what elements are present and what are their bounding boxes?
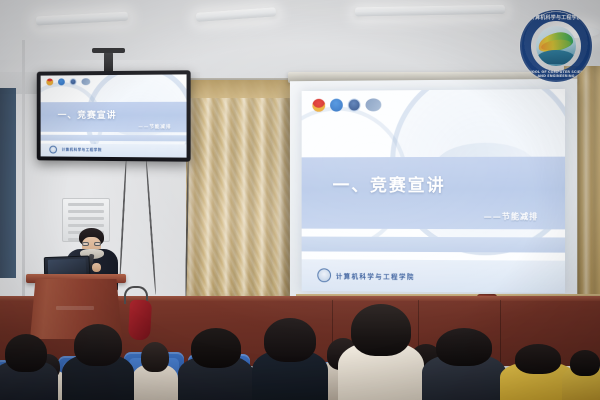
slide-footer-org: 计算机科学与工程学院 xyxy=(62,148,102,153)
emblem-red-logo-icon xyxy=(46,79,53,86)
audience-member xyxy=(62,324,134,400)
emblem-text-bottom: SCHOOL OF COMPUTER SCIENCE AND ENGINEERI… xyxy=(520,70,592,78)
slide-logo-row xyxy=(312,98,381,111)
university-seal-icon xyxy=(49,146,57,154)
tv-screen: 一、竞赛宣讲 ——节能减排 计算机科学与工程学院 xyxy=(41,74,187,157)
emblem-text-top: 计算机科学与工程学院 xyxy=(520,14,592,21)
slide-accent-band xyxy=(302,237,565,252)
slide-logo-row xyxy=(46,78,90,85)
slide-mirror: 一、竞赛宣讲 ——节能减排 计算机科学与工程学院 xyxy=(41,74,187,157)
ceiling-mounted-display: 一、竞赛宣讲 ——节能减排 计算机科学与工程学院 xyxy=(37,70,191,161)
audience-head xyxy=(264,318,316,362)
slide-accent-band xyxy=(41,135,187,141)
lecture-hall-photo: 一、竞赛宣讲 ——节能减排 计算机科学与工程学院 xyxy=(0,0,600,400)
university-school-emblem: 计算机科学与工程学院 SCHOOL OF COMPUTER SCIENCE AN… xyxy=(520,10,592,82)
slide-subtitle: ——节能减排 xyxy=(138,124,171,130)
slide-title: 一、竞赛宣讲 xyxy=(333,171,446,196)
slide-subtitle: ——节能减排 xyxy=(484,211,539,222)
audience-member xyxy=(562,350,600,400)
green-energy-logo-icon xyxy=(81,78,90,85)
slide-footer: 计算机科学与工程学院 xyxy=(41,143,187,157)
slide-footer-org: 计算机科学与工程学院 xyxy=(336,270,415,280)
audience-head xyxy=(351,304,411,356)
speaker-hand xyxy=(92,263,101,272)
emblem-red-logo-icon xyxy=(312,99,325,112)
audience-head xyxy=(436,328,492,366)
audience-member xyxy=(338,304,424,400)
curtain-center xyxy=(186,80,294,305)
emblem-blue-logo-icon xyxy=(330,99,343,112)
audience-head xyxy=(570,350,600,376)
slide-title: 一、竞赛宣讲 xyxy=(58,108,117,121)
university-seal-icon xyxy=(317,268,331,282)
wall-corner-edge xyxy=(22,40,25,340)
audience-head xyxy=(74,324,122,366)
projection-surface: 一、竞赛宣讲 ——节能减排 计算机科学与工程学院 xyxy=(302,89,565,293)
green-energy-logo-icon xyxy=(365,98,381,111)
emblem-blue-logo-icon xyxy=(58,79,65,86)
eyeglasses-icon xyxy=(82,242,101,246)
audience-member xyxy=(0,334,58,400)
window-curtain-dark xyxy=(0,88,16,278)
audience-member xyxy=(422,328,506,400)
slide-footer: 计算机科学与工程学院 xyxy=(302,259,565,293)
university-seal-logo-icon xyxy=(70,79,77,86)
audience-member xyxy=(132,342,178,400)
audience-head xyxy=(5,334,47,372)
university-seal-logo-icon xyxy=(347,99,360,112)
audience-head xyxy=(191,328,241,368)
projection-screen: 一、竞赛宣讲 ——节能减排 计算机科学与工程学院 xyxy=(290,79,577,304)
audience-head xyxy=(141,342,169,372)
audience-member xyxy=(252,318,328,400)
presentation-slide: 一、竞赛宣讲 ——节能减排 计算机科学与工程学院 xyxy=(302,89,565,293)
audience-head xyxy=(515,344,561,374)
podium-plaque xyxy=(56,306,94,310)
curtain-header xyxy=(186,80,294,98)
audience-member xyxy=(178,328,254,400)
